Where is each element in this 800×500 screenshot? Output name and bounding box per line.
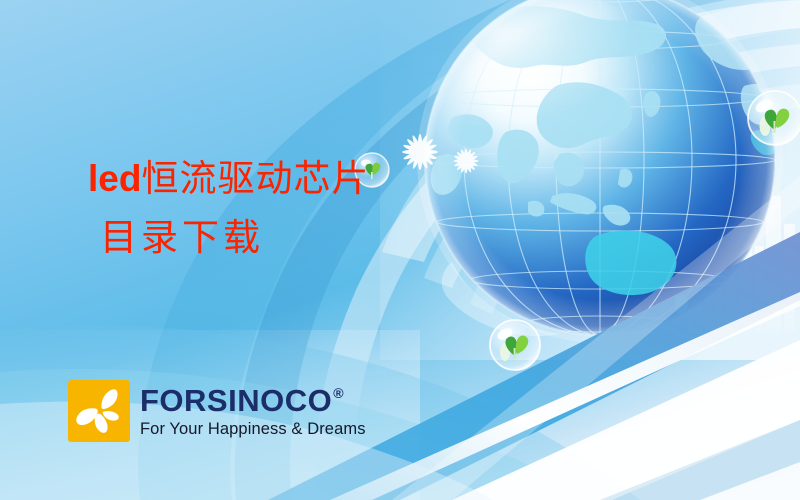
bubble-leaf-mid xyxy=(490,320,540,370)
logo-mark-background xyxy=(68,380,130,442)
logo-text-block: FORSINOCO® For Your Happiness & Dreams xyxy=(140,385,366,438)
company-logo: FORSINOCO® For Your Happiness & Dreams xyxy=(68,380,366,442)
bubble-leaf-right xyxy=(748,91,800,145)
logo-wordmark: FORSINOCO xyxy=(140,385,332,416)
sparkle-star-small xyxy=(454,149,479,174)
banner-root: led恒流驱动芯片 目录下载 FORSINOCO® For Your Happi… xyxy=(0,0,800,500)
logo-tagline: For Your Happiness & Dreams xyxy=(140,421,366,438)
registered-trademark-icon: ® xyxy=(333,386,344,400)
forsinoco-pinwheel-mark xyxy=(68,380,130,442)
logo-wordmark-row: FORSINOCO® xyxy=(140,385,366,416)
sparkle-star-large xyxy=(402,134,438,170)
bubble-leaf-left xyxy=(355,153,389,187)
